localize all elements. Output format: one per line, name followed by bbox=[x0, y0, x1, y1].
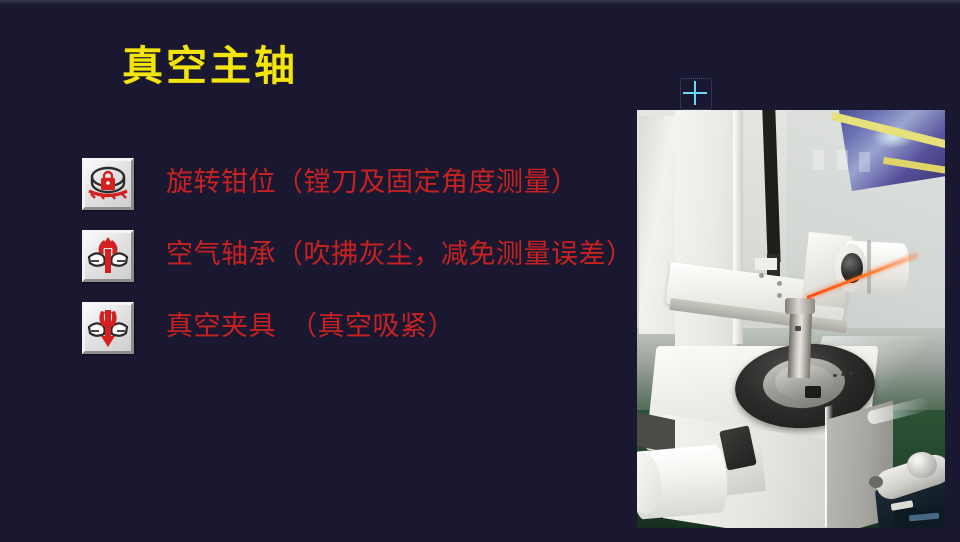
photo-wall-panel bbox=[859, 152, 870, 172]
photo-column-bracket bbox=[755, 258, 777, 270]
crosshair-marker bbox=[683, 81, 707, 105]
feature-list: 旋转钳位（镗刀及固定角度测量） 空气轴承（吹拂灰尘，减免测量误差） bbox=[82, 158, 642, 374]
slide-canvas: 真空主轴 旋转钳位（镗刀及固定角度测量） bbox=[0, 0, 960, 542]
photo-probe-knob bbox=[907, 452, 937, 478]
crosshair-halo bbox=[680, 78, 712, 110]
list-item: 旋转钳位（镗刀及固定角度测量） bbox=[82, 158, 642, 230]
photo-camera-rib bbox=[867, 240, 871, 294]
air-bearing-blow-up-arrow-icon bbox=[82, 230, 134, 282]
photo-chuck-key bbox=[805, 386, 821, 398]
photo-base-hole bbox=[833, 374, 837, 377]
list-item: 真空夹具 （真空吸紧） bbox=[82, 302, 642, 374]
page-title: 真空主轴 bbox=[122, 42, 298, 90]
photo-arm-hole bbox=[777, 281, 782, 286]
photo-tool-shaft-notch bbox=[795, 326, 801, 331]
list-item-label: 真空夹具 （真空吸紧） bbox=[166, 307, 455, 347]
photo-base-hole bbox=[841, 373, 845, 376]
rotary-clamp-lock-icon bbox=[82, 158, 134, 210]
photo-base-hole bbox=[849, 372, 853, 375]
photo-tool-shaft bbox=[788, 306, 812, 379]
vacuum-clamp-suction-down-arrow-icon bbox=[82, 302, 134, 354]
photo-arm-hole bbox=[777, 293, 782, 298]
list-item-label: 旋转钳位（镗刀及固定角度测量） bbox=[166, 163, 579, 203]
photo-wall-panel bbox=[813, 150, 824, 170]
list-item-label: 空气轴承（吹拂灰尘，减免测量误差） bbox=[166, 235, 634, 275]
vacuum-spindle-machine-photo bbox=[637, 110, 945, 528]
photo-wall-panel bbox=[837, 150, 848, 170]
list-item: 空气轴承（吹拂灰尘，减免测量误差） bbox=[82, 230, 642, 302]
photo-tool-shaft-top bbox=[785, 298, 815, 314]
photo-arm-hole bbox=[759, 273, 764, 278]
crosshair-vertical-line bbox=[694, 81, 696, 105]
photo-probe-tip bbox=[869, 476, 883, 488]
